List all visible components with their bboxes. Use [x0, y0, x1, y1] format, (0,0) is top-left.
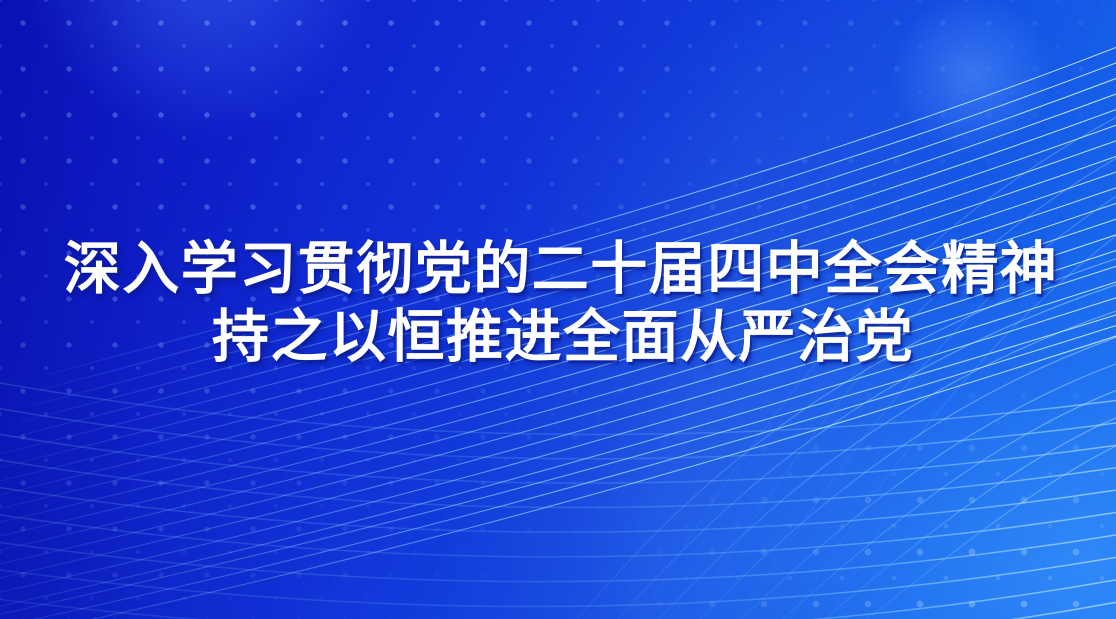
headline-line-2: 持之以恒推进全面从严治党	[0, 304, 1116, 372]
banner-canvas: 深入学习贯彻党的二十届四中全会精神 持之以恒推进全面从严治党	[0, 0, 1116, 619]
headline-line-1: 深入学习贯彻党的二十届四中全会精神	[0, 236, 1116, 304]
banner-headline: 深入学习贯彻党的二十届四中全会精神 持之以恒推进全面从严治党	[0, 236, 1116, 372]
